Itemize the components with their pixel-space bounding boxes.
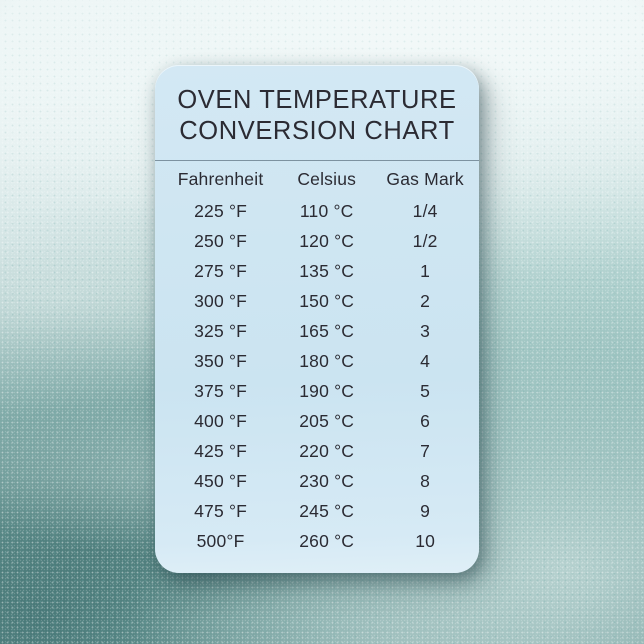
- table-row: 225 °F 110 °C 1/4: [155, 196, 479, 226]
- cell-fahrenheit: 300 °F: [155, 286, 278, 316]
- cell-gas-mark: 6: [375, 406, 479, 436]
- cell-celsius: 260 °C: [278, 526, 375, 556]
- column-header-celsius: Celsius: [278, 169, 375, 196]
- cell-fahrenheit: 475 °F: [155, 496, 278, 526]
- screenshot-canvas: OVEN TEMPERATURE CONVERSION CHART Fahren…: [0, 0, 644, 644]
- page-title-line-1: OVEN TEMPERATURE: [171, 85, 463, 116]
- cell-fahrenheit: 500°F: [155, 526, 278, 556]
- table-row: 400 °F 205 °C 6: [155, 406, 479, 436]
- cell-fahrenheit: 375 °F: [155, 376, 278, 406]
- cell-celsius: 135 °C: [278, 256, 375, 286]
- cell-celsius: 110 °C: [278, 196, 375, 226]
- column-header-fahrenheit: Fahrenheit: [155, 169, 278, 196]
- cell-gas-mark: 9: [375, 496, 479, 526]
- cell-celsius: 150 °C: [278, 286, 375, 316]
- cell-fahrenheit: 325 °F: [155, 316, 278, 346]
- conversion-table: Fahrenheit Celsius Gas Mark 225 °F 110 °…: [155, 169, 479, 556]
- cell-celsius: 120 °C: [278, 226, 375, 256]
- cell-gas-mark: 5: [375, 376, 479, 406]
- cell-gas-mark: 7: [375, 436, 479, 466]
- table-row: 425 °F 220 °C 7: [155, 436, 479, 466]
- cell-gas-mark: 2: [375, 286, 479, 316]
- cell-celsius: 180 °C: [278, 346, 375, 376]
- cell-gas-mark: 1/2: [375, 226, 479, 256]
- conversion-chart-card: OVEN TEMPERATURE CONVERSION CHART Fahren…: [155, 65, 479, 573]
- cell-celsius: 220 °C: [278, 436, 375, 466]
- table-row: 350 °F 180 °C 4: [155, 346, 479, 376]
- cell-celsius: 190 °C: [278, 376, 375, 406]
- cell-gas-mark: 1/4: [375, 196, 479, 226]
- table-row: 450 °F 230 °C 8: [155, 466, 479, 496]
- cell-gas-mark: 4: [375, 346, 479, 376]
- column-header-gas-mark: Gas Mark: [375, 169, 479, 196]
- cell-fahrenheit: 225 °F: [155, 196, 278, 226]
- cell-gas-mark: 3: [375, 316, 479, 346]
- table-row: 250 °F 120 °C 1/2: [155, 226, 479, 256]
- table-row: 475 °F 245 °C 9: [155, 496, 479, 526]
- title-divider: [155, 160, 479, 161]
- cell-celsius: 165 °C: [278, 316, 375, 346]
- table-row: 275 °F 135 °C 1: [155, 256, 479, 286]
- cell-fahrenheit: 350 °F: [155, 346, 278, 376]
- table-row: 300 °F 150 °C 2: [155, 286, 479, 316]
- card-title-block: OVEN TEMPERATURE CONVERSION CHART: [155, 65, 479, 147]
- cell-gas-mark: 8: [375, 466, 479, 496]
- cell-celsius: 230 °C: [278, 466, 375, 496]
- cell-fahrenheit: 450 °F: [155, 466, 278, 496]
- cell-gas-mark: 1: [375, 256, 479, 286]
- cell-fahrenheit: 250 °F: [155, 226, 278, 256]
- table-row: 325 °F 165 °C 3: [155, 316, 479, 346]
- cell-fahrenheit: 425 °F: [155, 436, 278, 466]
- cell-fahrenheit: 275 °F: [155, 256, 278, 286]
- cell-celsius: 245 °C: [278, 496, 375, 526]
- table-row: 500°F 260 °C 10: [155, 526, 479, 556]
- table-row: 375 °F 190 °C 5: [155, 376, 479, 406]
- table-header-row: Fahrenheit Celsius Gas Mark: [155, 169, 479, 196]
- cell-fahrenheit: 400 °F: [155, 406, 278, 436]
- cell-gas-mark: 10: [375, 526, 479, 556]
- cell-celsius: 205 °C: [278, 406, 375, 436]
- page-title-line-2: CONVERSION CHART: [171, 116, 463, 147]
